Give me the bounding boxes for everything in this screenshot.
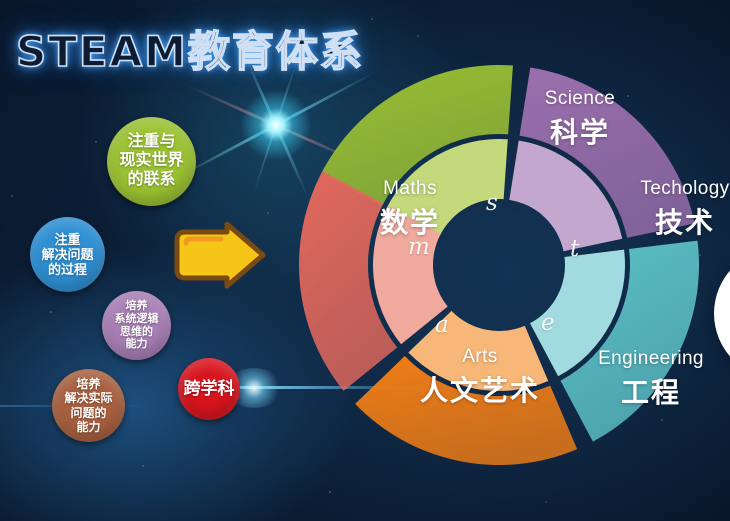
bubble-text: 注重解决问题的过程 — [37, 232, 97, 278]
concept-bubble-blue[interactable]: 注重解决问题的过程 — [30, 217, 105, 292]
steam-infographic: STEAM教育体系 注重与现实世界的联系注重解决问题的过程培养系统逻辑思维的能力… — [0, 0, 730, 521]
concept-bubble-brown[interactable]: 培养解决实际问题的能力 — [52, 369, 125, 442]
steam-wheel: Science科学sTechology技术tEngineering工程eArts… — [280, 48, 715, 483]
concept-bubble-green[interactable]: 注重与现实世界的联系 — [107, 117, 196, 206]
concept-bubble-red[interactable]: 跨学科 — [178, 358, 240, 420]
bubble-text: 跨学科 — [180, 379, 239, 399]
bubble-text: 培养系统逻辑思维的能力 — [111, 300, 163, 352]
concept-bubble-purple[interactable]: 培养系统逻辑思维的能力 — [102, 291, 171, 360]
right-arrow-icon — [171, 222, 267, 294]
bubble-text: 培养解决实际问题的能力 — [60, 377, 116, 434]
bubble-text: 注重与现实世界的联系 — [115, 133, 187, 190]
